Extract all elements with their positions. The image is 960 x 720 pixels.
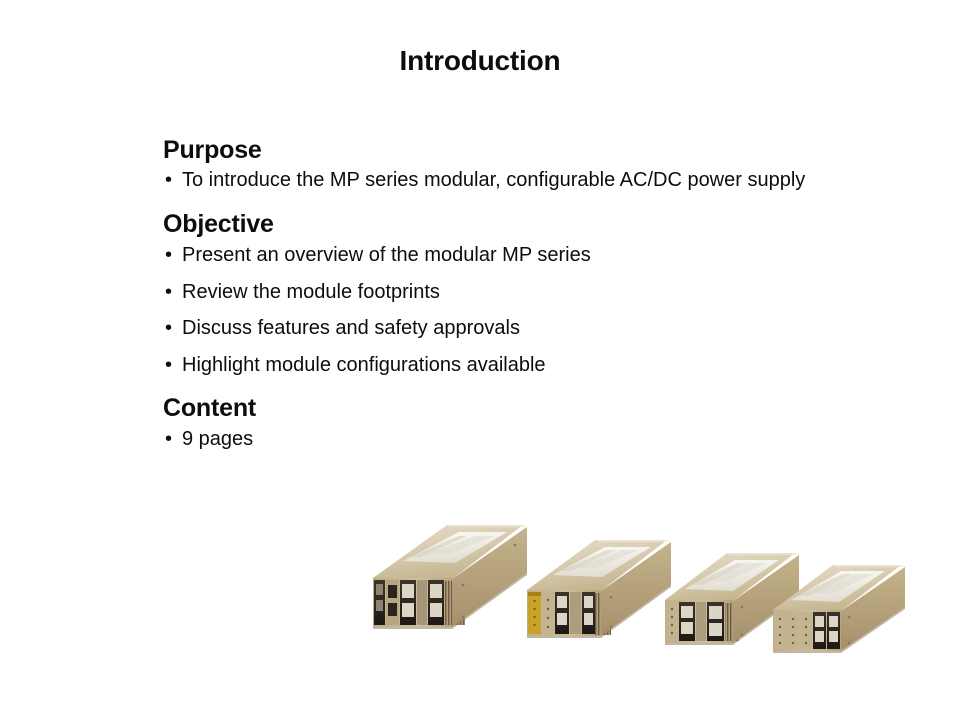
list-item-text: To introduce the MP series modular, conf… [182,169,805,191]
mp-chassis-large [527,540,671,638]
bullet-dot-icon: • [165,280,172,304]
product-photo-mp-series [355,505,955,665]
list-item-text: Present an overview of the modular MP se… [182,244,591,266]
slide-canvas: Introduction Purpose • To introduce the … [0,0,960,720]
page-title: Introduction [0,46,960,77]
bullet-dot-icon: • [165,427,172,451]
bullet-list-objective: • Present an overview of the modular MP … [163,243,843,377]
list-item-text: Review the module footprints [182,281,440,303]
bullet-dot-icon: • [165,316,172,340]
bullet-list-purpose: • To introduce the MP series modular, co… [163,168,843,192]
list-item-text: 9 pages [182,428,253,450]
section-objective: Objective • Present an overview of the m… [163,210,843,377]
section-heading-objective: Objective [163,210,843,238]
section-heading-content: Content [163,394,843,422]
list-item: • Highlight module configurations availa… [163,353,843,377]
bullet-list-content: • 9 pages [163,427,843,451]
list-item-text: Discuss features and safety approvals [182,317,520,339]
bullet-dot-icon: • [165,353,172,377]
section-heading-purpose: Purpose [163,136,843,164]
section-content: Content • 9 pages [163,394,843,451]
list-item: • 9 pages [163,427,843,451]
bullet-dot-icon: • [165,168,172,192]
section-purpose: Purpose • To introduce the MP series mod… [163,136,843,192]
slide-body: Purpose • To introduce the MP series mod… [163,136,843,451]
mp-chassis-largest [373,525,527,629]
list-item: • Present an overview of the modular MP … [163,243,843,267]
bullet-dot-icon: • [165,243,172,267]
list-item: • Discuss features and safety approvals [163,316,843,340]
list-item: • Review the module footprints [163,280,843,304]
list-item-text: Highlight module configurations availabl… [182,354,546,376]
list-item: • To introduce the MP series modular, co… [163,168,843,192]
